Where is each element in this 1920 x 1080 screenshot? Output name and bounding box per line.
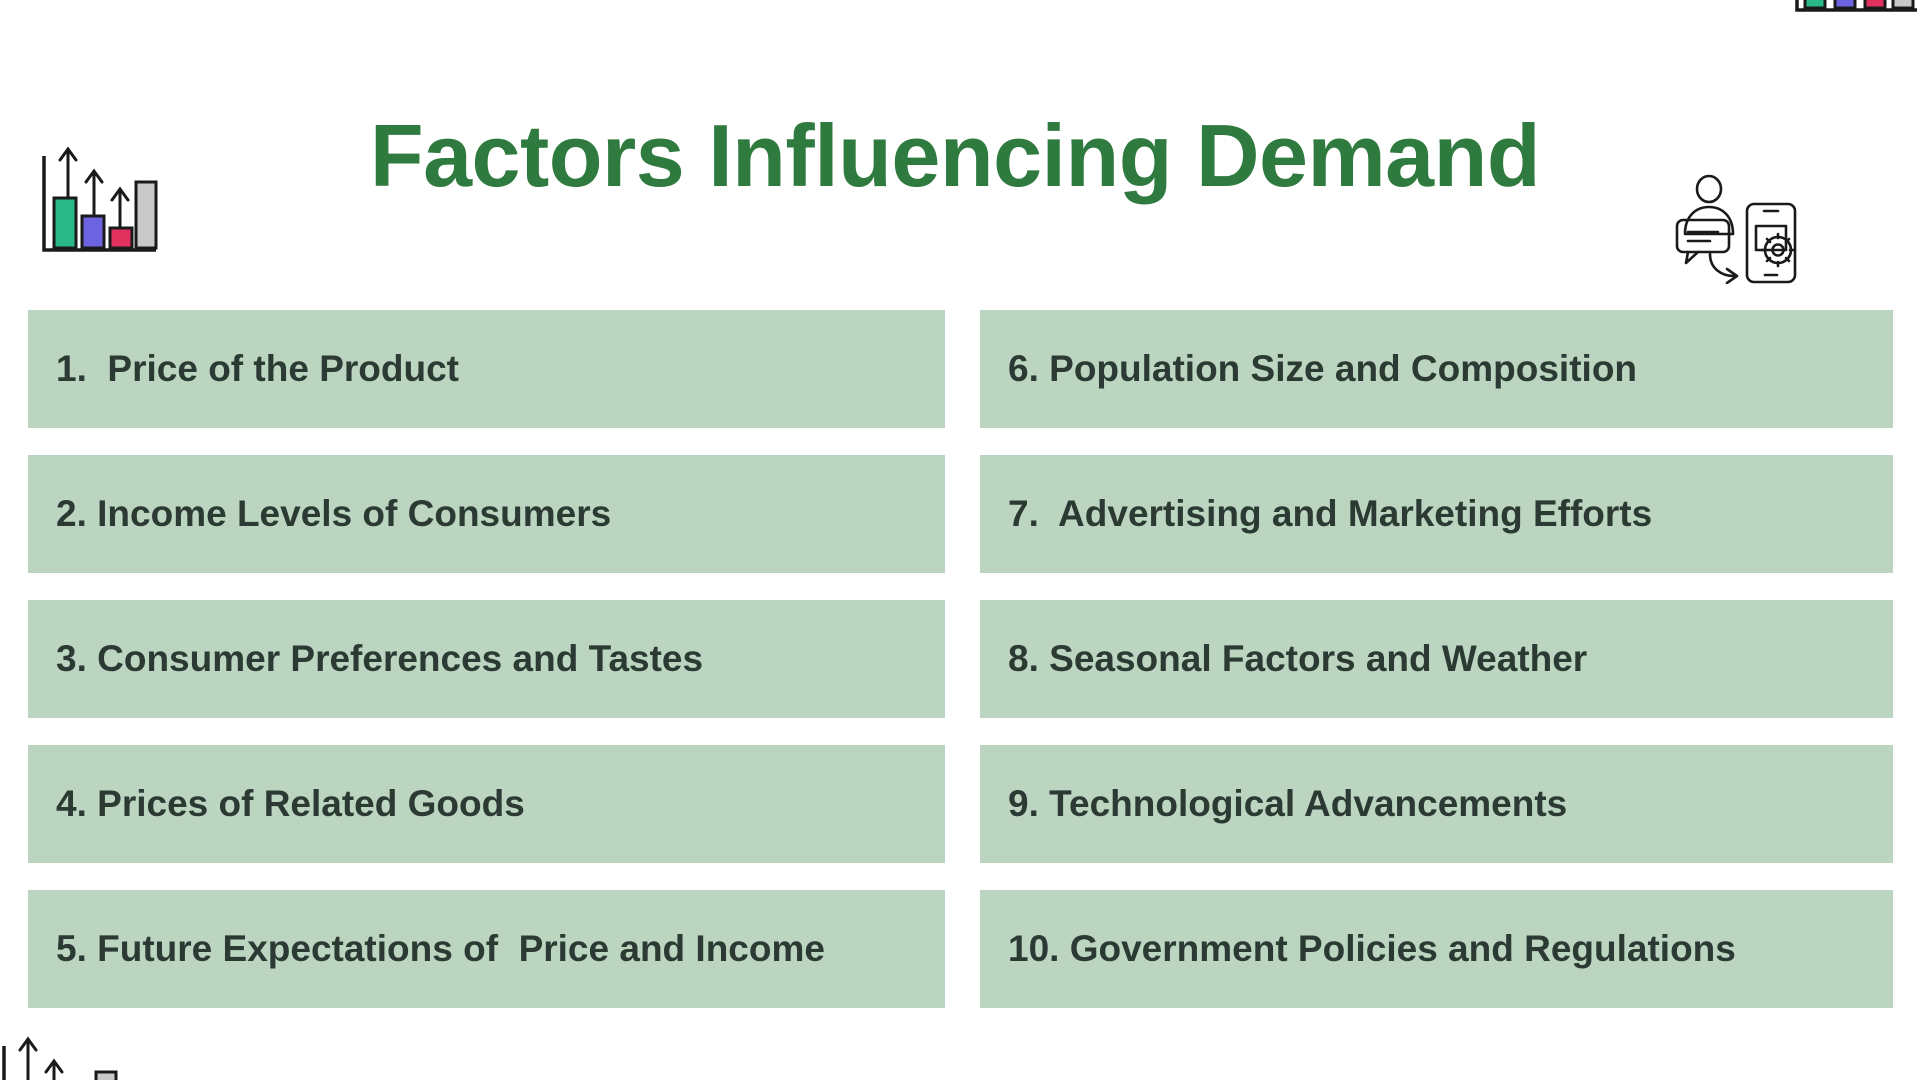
growth-bar-chart-icon [28,134,158,259]
factors-list: 1. Price of the Product 2. Income Levels… [0,310,1920,1050]
factor-item-2[interactable]: 2. Income Levels of Consumers [28,455,945,573]
factor-label: 1. Price of the Product [56,348,459,391]
bar-chart-bars-icon [1805,0,1913,8]
factor-item-10[interactable]: 10. Government Policies and Regulations [980,890,1893,1008]
factor-label: 3. Consumer Preferences and Tastes [56,638,703,681]
curved-arrow-icon [1710,254,1737,283]
factor-label: 2. Income Levels of Consumers [56,493,611,536]
factor-item-7[interactable]: 7. Advertising and Marketing Efforts [980,455,1893,573]
factor-item-5[interactable]: 5. Future Expectations of Price and Inco… [28,890,945,1008]
factor-item-3[interactable]: 3. Consumer Preferences and Tastes [28,600,945,718]
factor-label: 9. Technological Advancements [1008,783,1567,826]
factor-label: 5. Future Expectations of Price and Inco… [56,928,825,971]
bar-chart-decoration-top-right [1793,0,1919,22]
factor-label: 8. Seasonal Factors and Weather [1008,638,1587,681]
bar-chart-decoration-bottom-left [0,1028,118,1080]
factor-label: 10. Government Policies and Regulations [1008,928,1736,971]
up-arrow-icon [46,1061,62,1080]
factor-item-8[interactable]: 8. Seasonal Factors and Weather [980,600,1893,718]
up-arrow-icon [60,149,76,200]
up-arrow-icon [86,171,102,216]
page-title: Factors Influencing Demand [255,105,1655,206]
factor-item-4[interactable]: 4. Prices of Related Goods [28,745,945,863]
person-mobile-settings-icon [1672,172,1800,284]
factor-item-1[interactable]: 1. Price of the Product [28,310,945,428]
presentation-slide: Factors Influencing Demand [0,0,1920,1080]
factors-column-left: 1. Price of the Product 2. Income Levels… [28,310,945,1008]
up-arrow-icon [20,1039,36,1080]
factor-item-6[interactable]: 6. Population Size and Composition [980,310,1893,428]
factors-column-right: 6. Population Size and Composition 7. Ad… [980,310,1893,1008]
factor-label: 6. Population Size and Composition [1008,348,1637,391]
person-head-icon [1697,176,1721,202]
factor-label: 4. Prices of Related Goods [56,783,525,826]
up-arrow-icon [112,189,128,230]
title-row: Factors Influencing Demand [0,46,1920,176]
factor-item-9[interactable]: 9. Technological Advancements [980,745,1893,863]
factor-label: 7. Advertising and Marketing Efforts [1008,493,1652,536]
